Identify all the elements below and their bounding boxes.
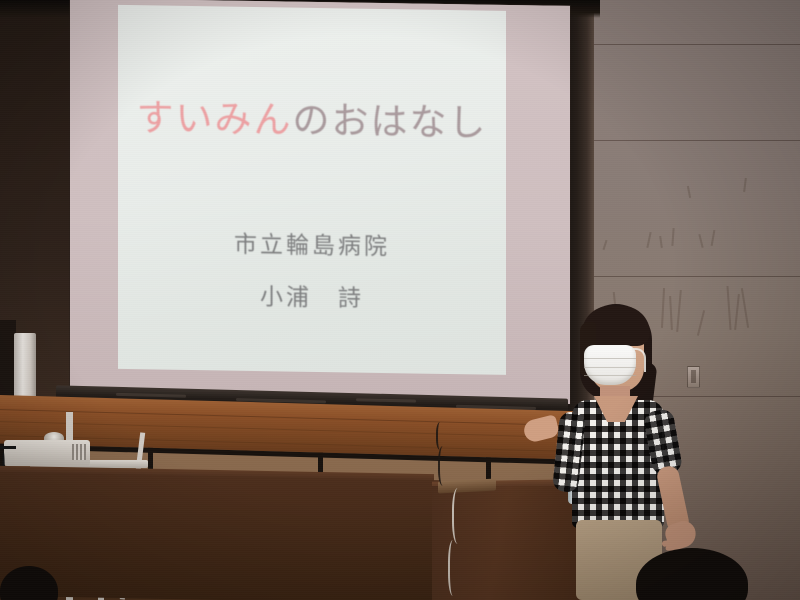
projected-slide: すいみんのおはなし 市立輪島病院 小浦 詩	[118, 5, 506, 375]
slide-presenter-name: 小浦 詩	[118, 275, 506, 315]
projector-cable-segment	[0, 446, 16, 449]
podium-left-block	[0, 472, 440, 600]
slide-title-pink-part: すいみん	[137, 96, 293, 141]
presenter-left-hand	[522, 414, 560, 444]
dark-cable	[436, 422, 446, 450]
slide-title: すいみんのおはなし	[118, 87, 506, 147]
projection-screen: すいみんのおはなし 市立輪島病院 小浦 詩	[70, 0, 570, 404]
white-cable	[452, 488, 466, 544]
presentation-photo-scene: すいみんのおはなし 市立輪島病院 小浦 詩	[0, 0, 800, 600]
face-mask	[584, 345, 636, 385]
wall-seam-line	[592, 276, 800, 277]
projector-vent	[72, 444, 86, 460]
slide-title-gray-part: のおはなし	[293, 99, 488, 145]
dark-cable	[438, 446, 450, 486]
wall-seam-line	[592, 44, 800, 45]
face-mask-ear-loop	[632, 348, 646, 372]
white-cable	[448, 540, 460, 596]
wall-seam-line	[592, 140, 800, 141]
slide-affiliation: 市立輪島病院	[118, 223, 506, 263]
